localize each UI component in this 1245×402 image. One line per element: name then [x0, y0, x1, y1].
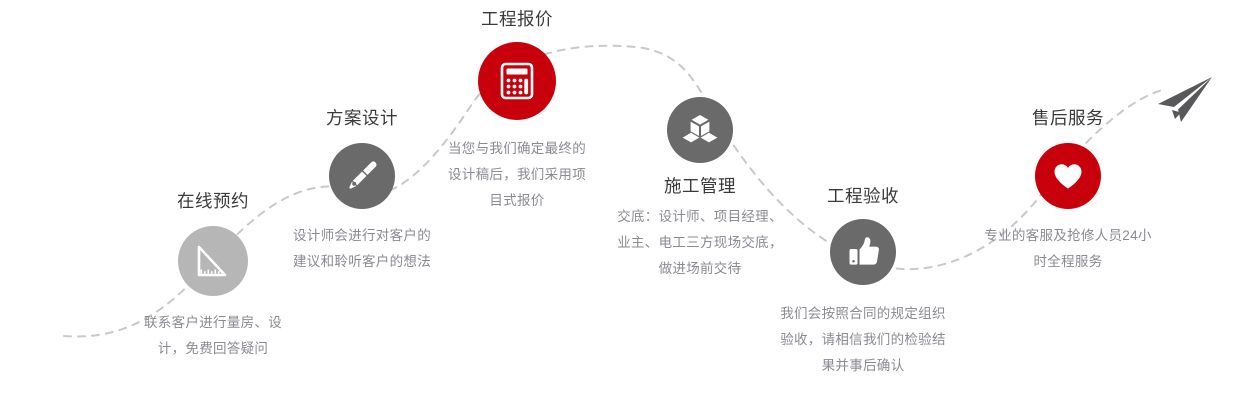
paper-plane-marker	[1148, 74, 1218, 135]
thumbs-up-icon	[843, 232, 883, 272]
heart-icon	[1048, 156, 1088, 196]
step-icon-wrap[interactable]	[417, 42, 617, 120]
step-description: 当您与我们确定最终的设计稿后，我们采用项目式报价	[442, 136, 592, 214]
icon-circle	[329, 143, 395, 209]
step-title: 售后服务	[968, 107, 1168, 130]
step-description: 交底：设计师、项目经理、业主、电工三方现场交底，做进场前交待	[614, 204, 786, 282]
step-project-acceptance[interactable]: 工程验收 我们会按照合同的规定组织验收，请相信我们的检验结果并事后确认	[763, 185, 963, 379]
step-title: 工程报价	[417, 8, 617, 31]
calculator-icon	[495, 59, 539, 103]
icon-circle	[178, 226, 248, 296]
fountain-pen-icon	[343, 157, 381, 195]
paper-plane-icon	[1148, 74, 1218, 130]
blocks-icon	[680, 110, 720, 150]
step-description: 我们会按照合同的规定组织验收，请相信我们的检验结果并事后确认	[777, 301, 949, 379]
step-project-quotation[interactable]: 工程报价	[417, 8, 617, 214]
step-description: 设计师会进行对客户的建议和聆听客户的想法	[287, 223, 437, 275]
step-description: 专业的客服及抢修人员24小时全程服务	[982, 223, 1154, 275]
service-process-diagram: 在线预约 联系客户进行量房、设计，免费回答疑问 方案设计	[0, 0, 1245, 402]
icon-circle	[1035, 143, 1101, 209]
step-title: 工程验收	[763, 185, 963, 208]
triangle-ruler-icon	[192, 240, 234, 282]
icon-circle	[478, 42, 556, 120]
step-after-sales-service[interactable]: 售后服务 专业的客服及抢修人员24小时全程服务	[968, 107, 1168, 275]
step-icon-wrap[interactable]	[968, 143, 1168, 209]
step-icon-wrap[interactable]	[600, 97, 800, 163]
icon-circle	[667, 97, 733, 163]
icon-circle	[830, 219, 896, 285]
step-icon-wrap[interactable]	[763, 219, 963, 285]
step-description: 联系客户进行量房、设计，免费回答疑问	[138, 310, 288, 362]
